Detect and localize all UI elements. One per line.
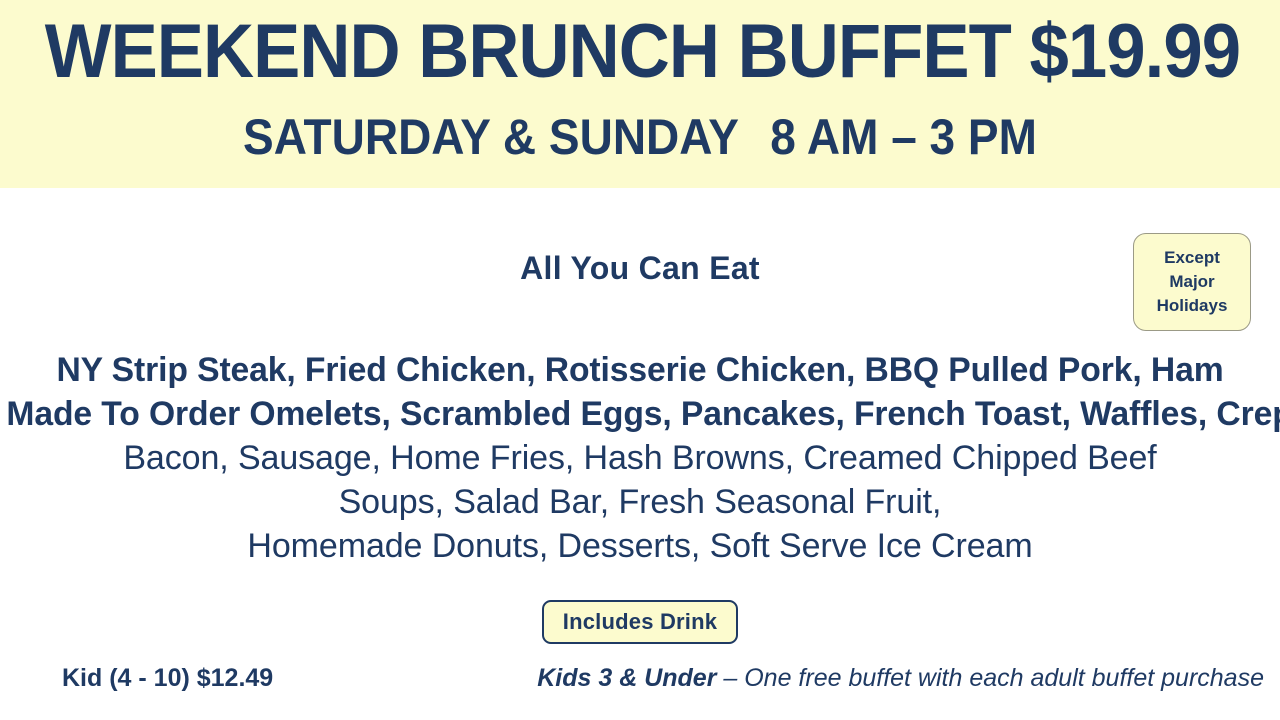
menu-body: Except Major Holidays All You Can Eat NY… (0, 188, 1280, 720)
pricing-footer: Kid (4 - 10) $12.49 Kids 3 & Under – One… (0, 658, 1280, 698)
includes-drink-badge: Includes Drink (542, 600, 738, 644)
holiday-badge-line-3: Holidays (1157, 294, 1228, 318)
header-hours: 8 AM – 3 PM (770, 109, 1037, 165)
menu-line: NY Strip Steak, Fried Chicken, Rotisseri… (6, 348, 1273, 392)
header-schedule: SATURDAY & SUNDAY8 AM – 3 PM (51, 112, 1229, 162)
menu-line: Made To Order Omelets, Scrambled Eggs, P… (6, 392, 1273, 436)
kids-under-three-note: Kids 3 & Under – One free buffet with ea… (537, 658, 1264, 698)
kids-note-lead: Kids 3 & Under (537, 664, 716, 692)
menu-line: Homemade Donuts, Desserts, Soft Serve Ic… (0, 524, 1280, 568)
section-heading-all-you-can-eat: All You Can Eat (0, 250, 1280, 287)
menu-line: Soups, Salad Bar, Fresh Seasonal Fruit, (0, 480, 1280, 524)
menu-line: Bacon, Sausage, Home Fries, Hash Browns,… (0, 436, 1280, 480)
header-banner: WEEKEND BRUNCH BUFFET $19.99 SATURDAY & … (0, 0, 1280, 188)
kids-note-rest: – One free buffet with each adult buffet… (716, 664, 1264, 692)
header-days: SATURDAY & SUNDAY (243, 109, 739, 165)
menu-item-list: NY Strip Steak, Fried Chicken, Rotisseri… (0, 348, 1280, 568)
kid-price-label: Kid (4 - 10) $12.49 (62, 658, 273, 698)
page-title: WEEKEND BRUNCH BUFFET $19.99 (45, 14, 1235, 90)
